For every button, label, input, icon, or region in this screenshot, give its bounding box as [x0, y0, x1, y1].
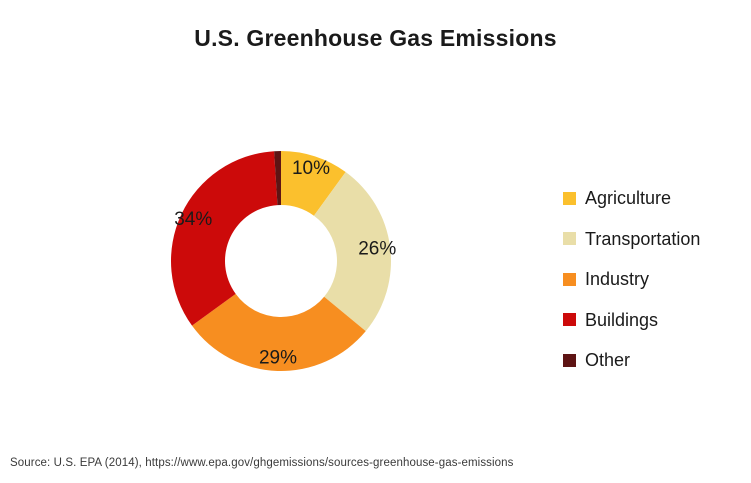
legend-swatch-icon	[563, 313, 576, 326]
legend-swatch-icon	[563, 354, 576, 367]
pie-slice-label-industry: 29%	[259, 347, 297, 368]
legend-swatch-icon	[563, 192, 576, 205]
legend-item-label: Transportation	[585, 229, 700, 249]
donut-chart-svg: 10%26%29%34%	[121, 101, 441, 421]
pie-slice-label-agriculture: 10%	[292, 158, 330, 179]
legend-item-industry[interactable]: Industry	[563, 259, 748, 300]
legend-item-buildings[interactable]: Buildings	[563, 300, 748, 341]
pie-slice-group	[171, 151, 391, 371]
legend-item-label: Agriculture	[585, 188, 671, 208]
legend-item-transportation[interactable]: Transportation	[563, 219, 748, 260]
pie-slice-buildings[interactable]	[171, 151, 277, 325]
donut-chart: 10%26%29%34%	[121, 101, 441, 421]
source-note: Source: U.S. EPA (2014), https://www.epa…	[10, 457, 514, 469]
legend-swatch-icon	[563, 273, 576, 286]
legend-item-label: Industry	[585, 269, 649, 289]
legend-item-other[interactable]: Other	[563, 340, 748, 381]
pie-slice-label-transportation: 26%	[358, 238, 396, 259]
chart-figure: U.S. Greenhouse Gas Emissions 10%26%29%3…	[0, 0, 751, 483]
chart-legend: AgricultureTransportationIndustryBuildin…	[563, 178, 748, 381]
legend-swatch-icon	[563, 232, 576, 245]
page-title: U.S. Greenhouse Gas Emissions	[0, 24, 751, 52]
legend-item-agriculture[interactable]: Agriculture	[563, 178, 748, 219]
legend-item-label: Buildings	[585, 310, 658, 330]
pie-slice-label-buildings: 34%	[174, 209, 212, 230]
legend-item-label: Other	[585, 350, 630, 370]
